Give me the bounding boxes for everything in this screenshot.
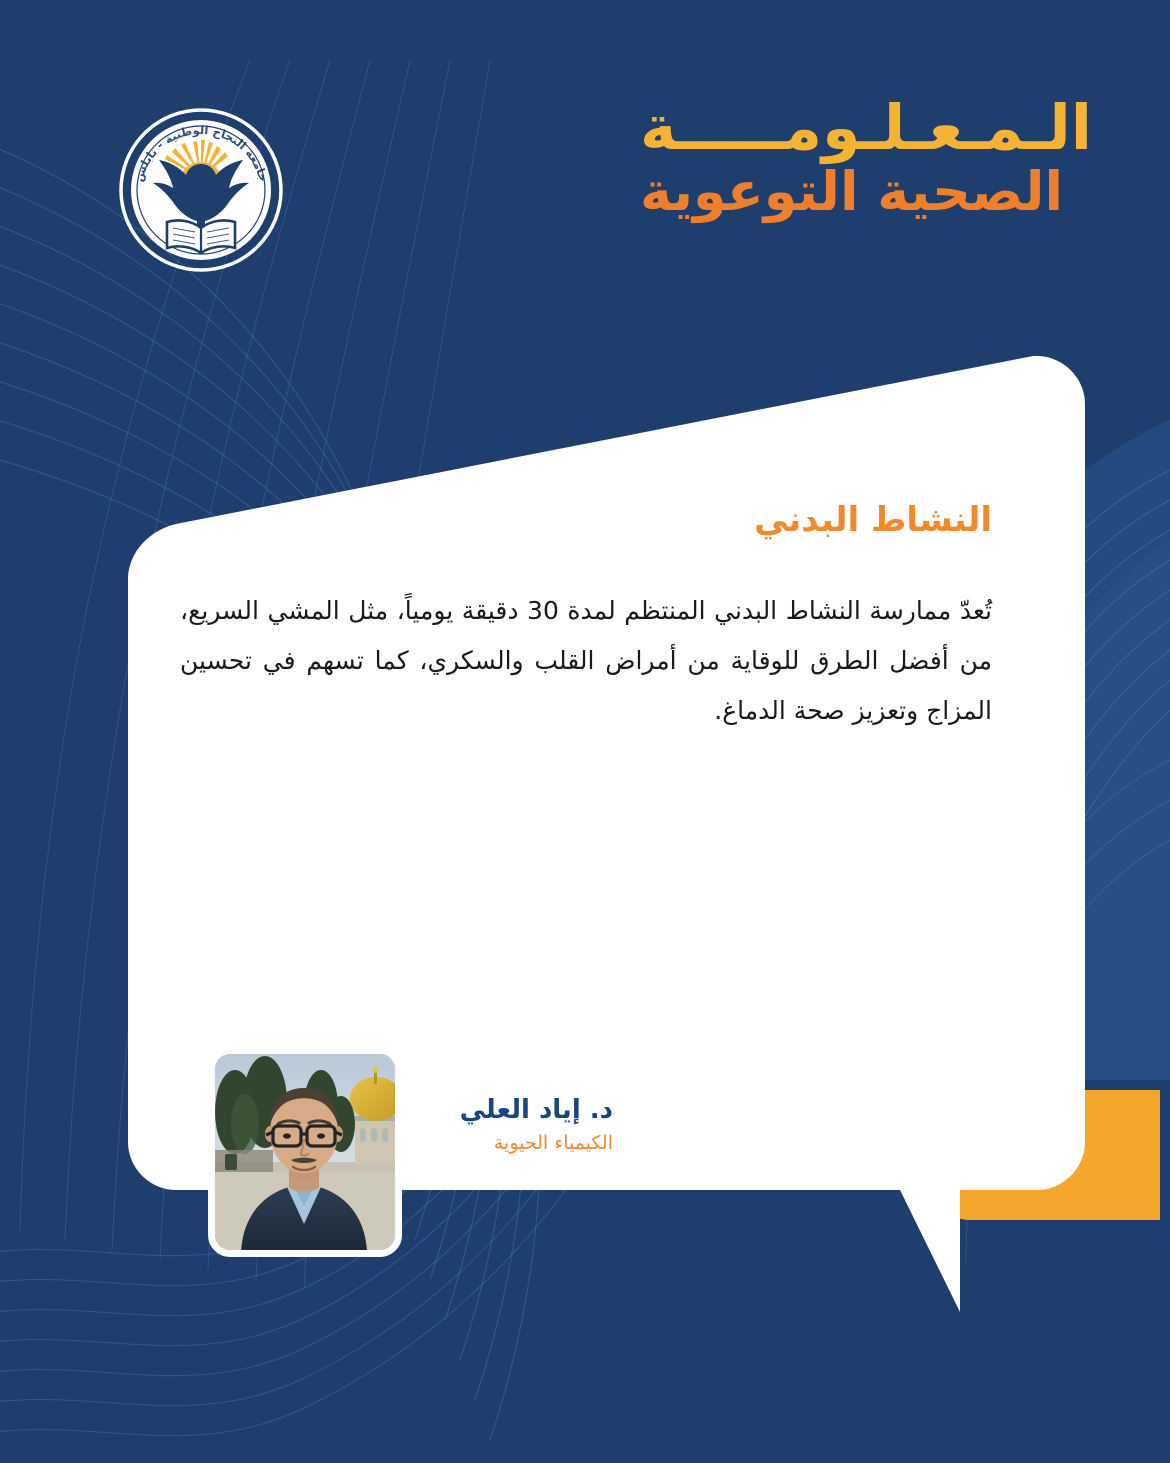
author-photo	[208, 1047, 402, 1257]
author-portrait-image	[213, 1054, 395, 1252]
health-awareness-poster: جامعة النجاح الوطنية - نابلس فلسطين فلسط…	[0, 0, 1170, 1463]
author-text-block: د. إياد العلي الكيمياء الحيوية	[423, 1095, 613, 1156]
author-name: د. إياد العلي	[423, 1095, 613, 1126]
bubble-content: النشاط البدني تُعدّ ممارسة النشاط البدني…	[170, 500, 1000, 736]
author-block: د. إياد العلي الكيمياء الحيوية	[208, 1047, 628, 1262]
bubble-heading: النشاط البدني	[170, 500, 1000, 540]
author-department: الكيمياء الحيوية	[423, 1131, 613, 1156]
bubble-body-text: تُعدّ ممارسة النشاط البدني المنتظم لمدة …	[170, 586, 1000, 736]
